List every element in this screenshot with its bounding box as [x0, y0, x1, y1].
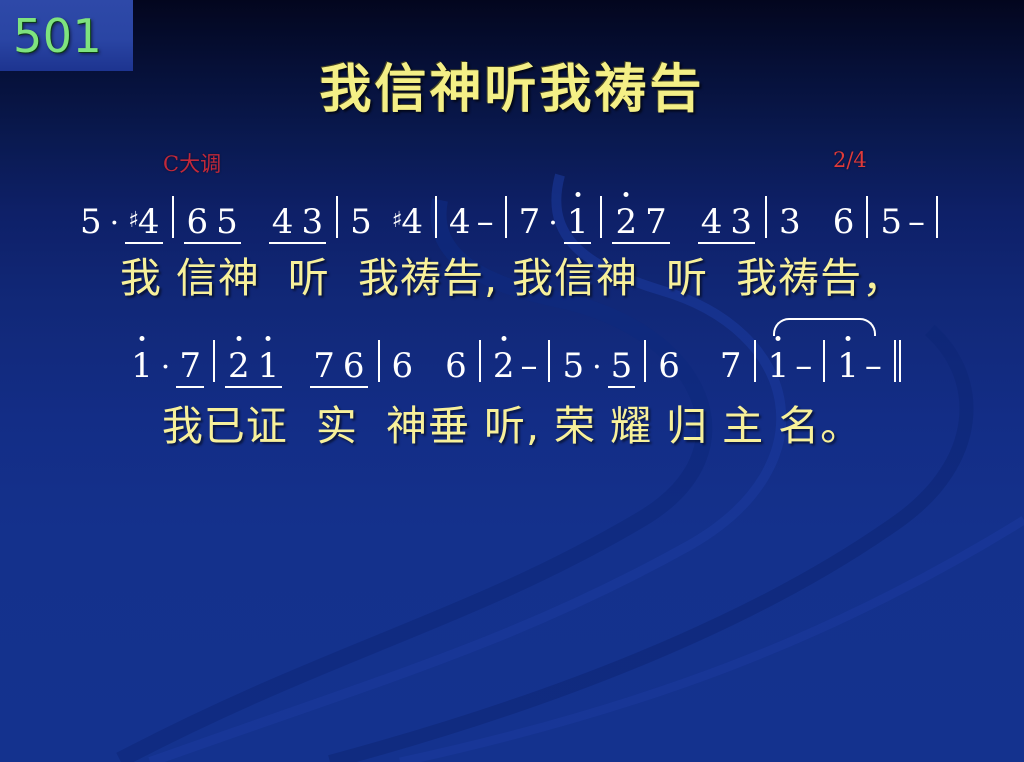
beam-group: 2 1 — [224, 349, 283, 383]
barline — [823, 340, 825, 382]
barline — [479, 340, 481, 382]
augmentation-dot: · — [587, 353, 608, 383]
measure: 5 · ♯4 — [77, 205, 162, 239]
score-meta-row: C大调 2/4 — [0, 148, 1024, 176]
barline — [936, 196, 938, 238]
note: 7 — [717, 349, 745, 383]
measure: 3 6 — [776, 205, 857, 239]
note: 4 — [446, 205, 474, 239]
note: 6 — [655, 349, 683, 383]
barline — [172, 196, 174, 238]
measure: 5 – — [877, 205, 927, 239]
measure: 5 ♯4 — [347, 205, 426, 239]
note: 1 — [834, 349, 862, 383]
hymn-slide: 501 我信神听我祷告 C大调 2/4 5 · ♯4 6 5 4 3 — [0, 0, 1024, 762]
sustain-dash: – — [905, 205, 927, 239]
barline — [754, 340, 756, 382]
note: 4 — [697, 205, 727, 239]
augmentation-dot: · — [543, 209, 564, 239]
barline — [378, 340, 380, 382]
augmentation-dot: · — [105, 209, 126, 239]
beam-group: 4 3 — [268, 205, 327, 239]
key-signature: C大调 — [163, 148, 221, 178]
barline — [644, 340, 646, 382]
measure: 2 7 4 3 — [611, 205, 756, 239]
note: 3 — [726, 205, 756, 239]
measure: 6 7 — [655, 349, 744, 383]
note: 7 — [641, 205, 671, 239]
beam-group: 4 3 — [697, 205, 756, 239]
note: 5 — [77, 205, 105, 239]
note: 5 — [212, 205, 242, 239]
measure: 2 1 7 6 — [224, 349, 369, 383]
measure: 7 · 1 — [516, 205, 592, 239]
note: 1 — [765, 349, 793, 383]
note: 7 — [516, 205, 544, 239]
sustain-dash: – — [474, 205, 496, 239]
sustain-dash: – — [792, 349, 814, 383]
sustain-dash: – — [862, 349, 884, 383]
barline — [435, 196, 437, 238]
note: 5 — [877, 205, 905, 239]
barline — [505, 196, 507, 238]
note: 6 — [339, 349, 369, 383]
beam-group: 7 6 — [309, 349, 368, 383]
barline — [600, 196, 602, 238]
barline — [213, 340, 215, 382]
note: 7 — [176, 349, 204, 383]
note: 3 — [776, 205, 804, 239]
note: 6 — [183, 205, 213, 239]
barline — [866, 196, 868, 238]
lyrics-line-2: 我已证 实 神垂 听, 荣 耀 归 主 名。 — [0, 404, 1024, 449]
note: 5 — [559, 349, 587, 383]
beam-group: 6 5 — [183, 205, 242, 239]
note: ♯4 — [125, 205, 162, 239]
note: 2 — [611, 205, 641, 239]
notation-line-2: 1 · 7 2 1 7 6 6 6 2 – — [0, 340, 1024, 383]
note: ♯4 — [389, 205, 426, 239]
measure: 5 · 5 — [559, 349, 635, 383]
note: 3 — [297, 205, 327, 239]
note: 5 — [347, 205, 375, 239]
barline — [548, 340, 550, 382]
lyrics-line-1: 我 信神 听 我祷告, 我信神 听 我祷告， — [0, 256, 1024, 301]
note: 6 — [442, 349, 470, 383]
note: 1 — [128, 349, 156, 383]
note: 1 — [564, 205, 592, 239]
beam-group: 2 7 — [611, 205, 670, 239]
measure: 6 5 4 3 — [183, 205, 328, 239]
barline — [765, 196, 767, 238]
note: 1 — [254, 349, 284, 383]
sustain-dash: – — [517, 349, 539, 383]
note: 4 — [268, 205, 298, 239]
measure: 1 · 7 — [128, 349, 204, 383]
page-title: 我信神听我祷告 — [0, 62, 1024, 118]
final-barline — [894, 340, 896, 382]
tie-arc — [773, 318, 876, 336]
note: 5 — [608, 349, 636, 383]
measure: 1 – — [765, 349, 815, 383]
measure: 6 6 — [389, 349, 470, 383]
note: 2 — [224, 349, 254, 383]
note: 6 — [389, 349, 417, 383]
note: 7 — [309, 349, 339, 383]
measure: 1 – — [834, 349, 884, 383]
hymn-number-badge: 501 — [0, 0, 133, 71]
measure: 4 – — [446, 205, 496, 239]
barline — [336, 196, 338, 238]
notation-line-1: 5 · ♯4 6 5 4 3 5 ♯4 4 – — [0, 196, 1024, 239]
tie-group: 1 – 1 – — [765, 340, 884, 383]
measure: 2 – — [490, 349, 540, 383]
hymn-number-text: 501 — [13, 13, 102, 59]
time-signature: 2/4 — [833, 148, 867, 172]
note: 6 — [830, 205, 858, 239]
note: 2 — [490, 349, 518, 383]
augmentation-dot: · — [156, 353, 177, 383]
